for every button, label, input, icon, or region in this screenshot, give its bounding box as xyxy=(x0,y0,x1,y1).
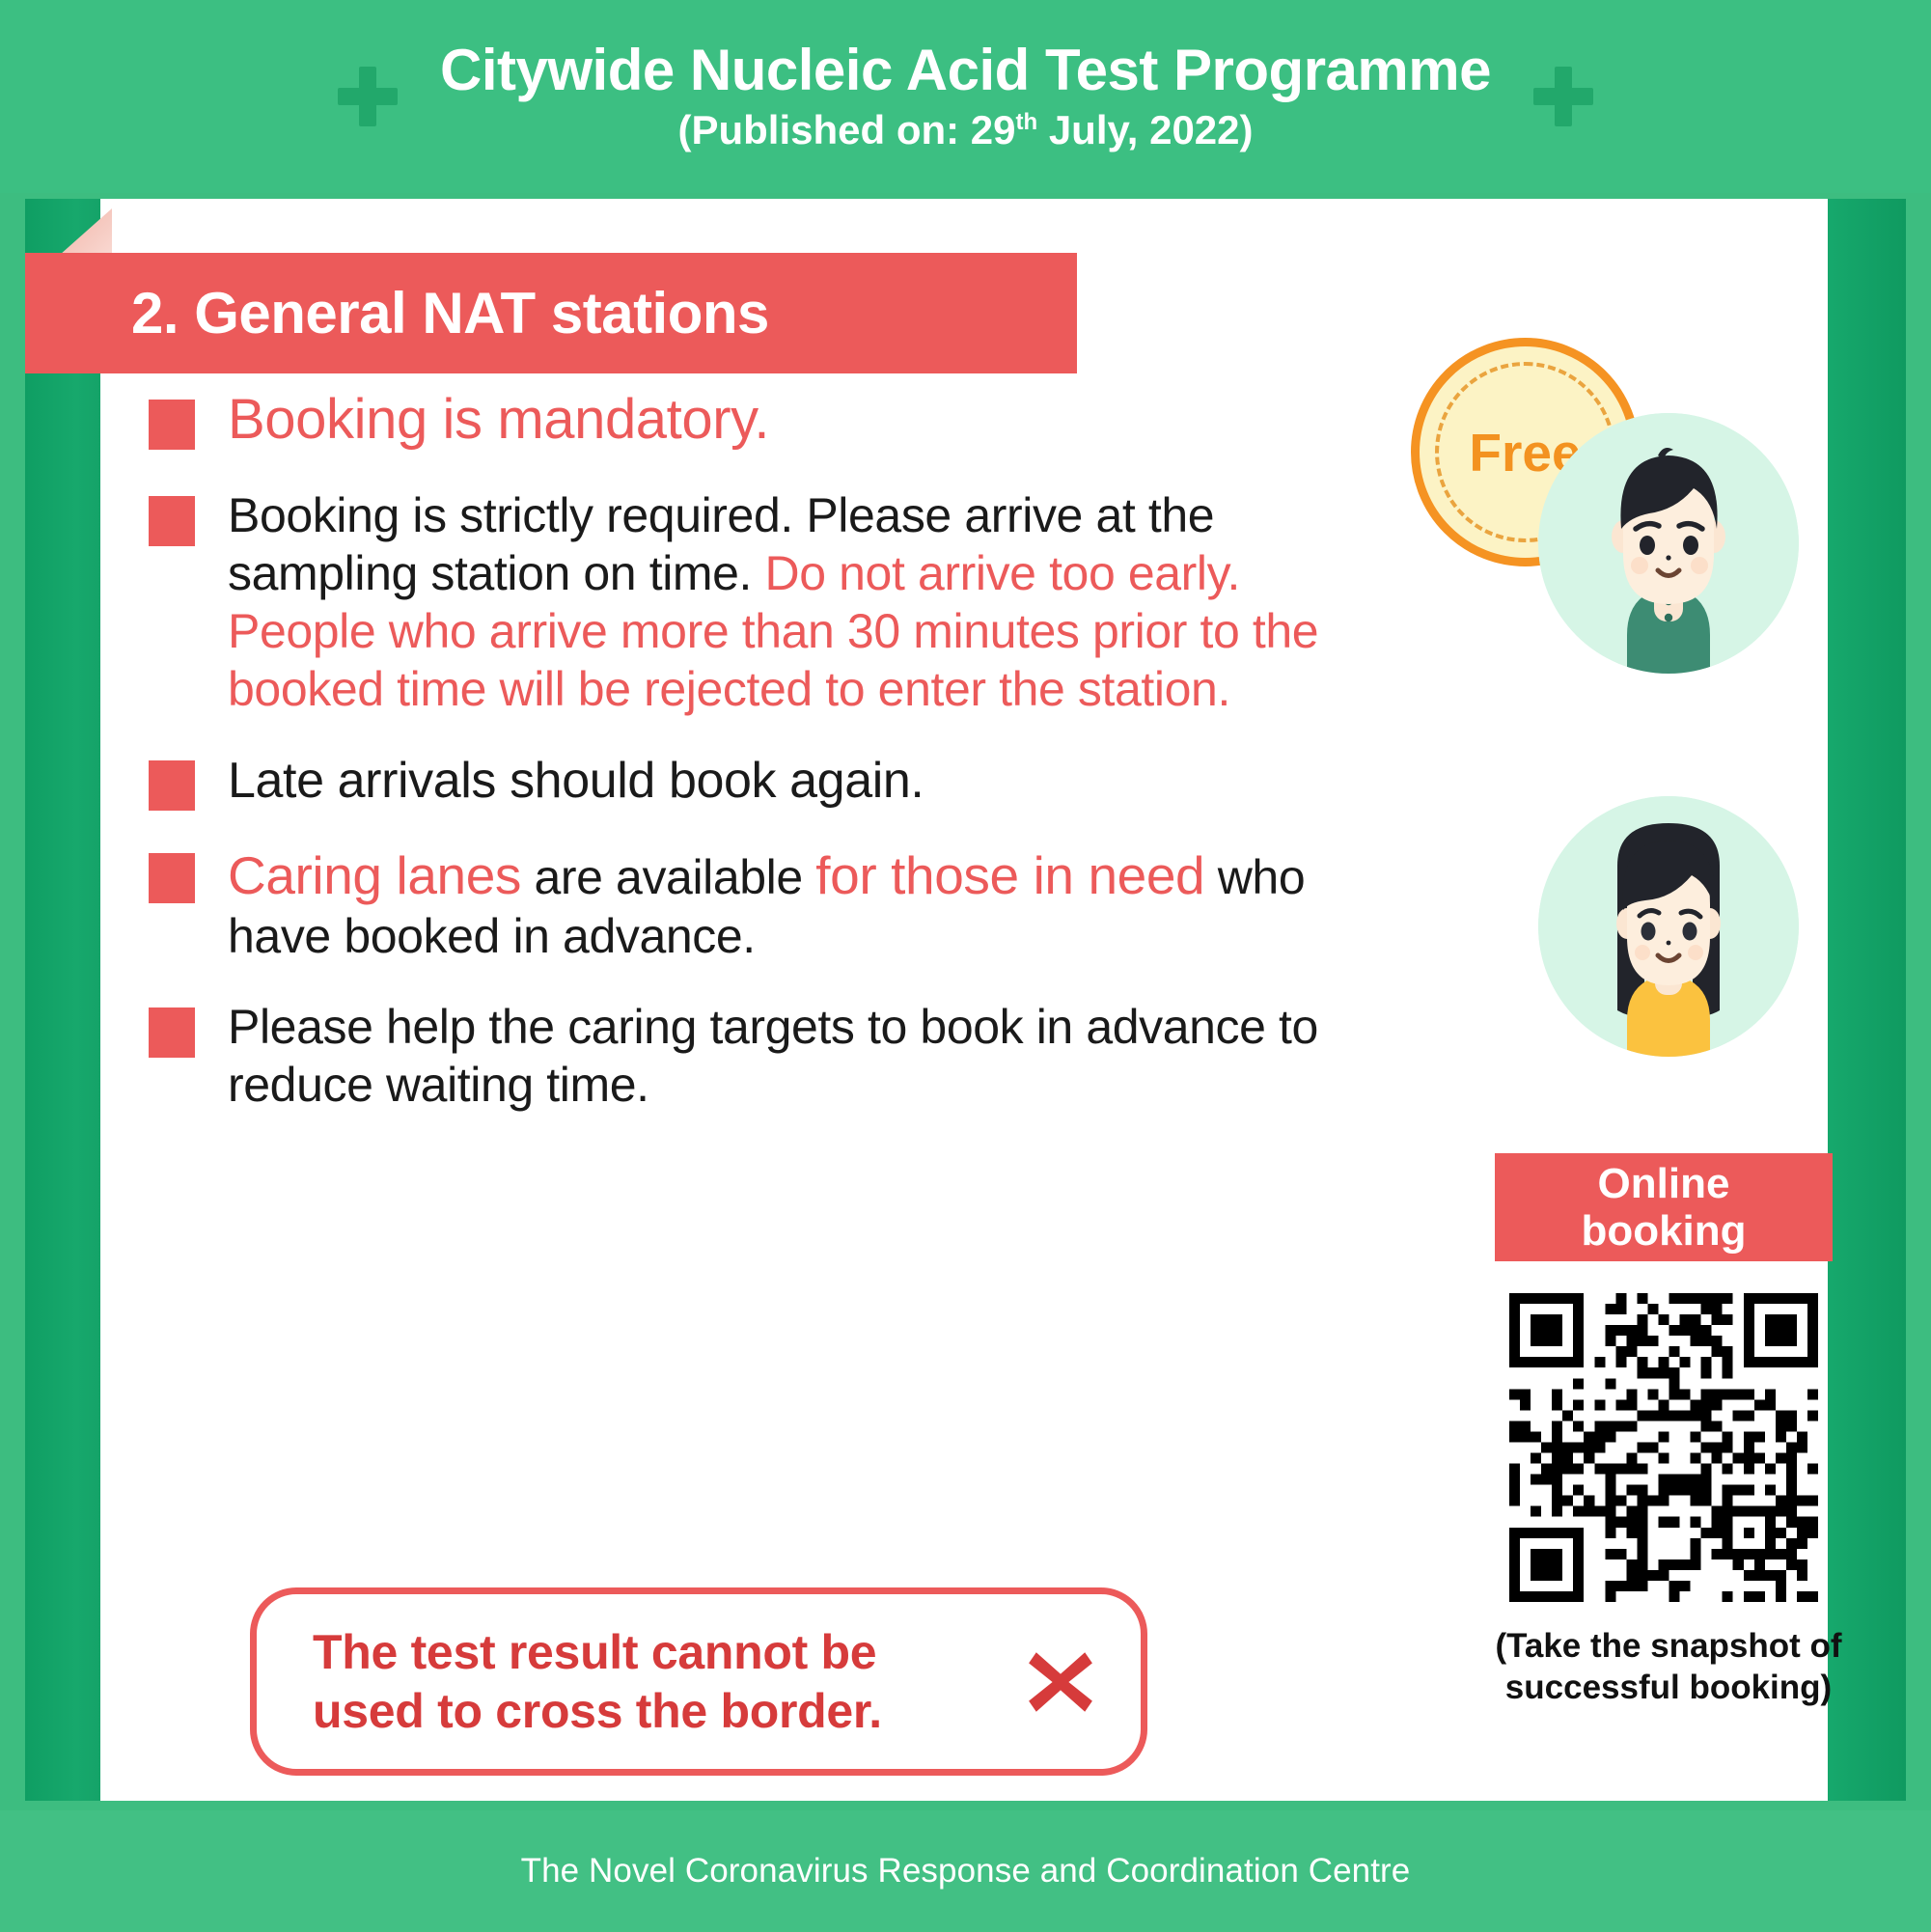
card-left-edge xyxy=(25,199,110,1801)
online-booking-label: Online booking xyxy=(1581,1160,1746,1256)
male-person-avatar xyxy=(1538,413,1799,674)
publish-date-prefix: (Published on: 29 xyxy=(677,107,1015,152)
online-booking-line-2: booking xyxy=(1581,1207,1746,1255)
bullet-part: Caring lanes xyxy=(228,845,521,905)
bullet-square-icon xyxy=(149,400,195,450)
bullet-square-icon xyxy=(149,496,195,546)
bullet-part: are available xyxy=(521,850,815,904)
bullet-item-late-arrivals: Late arrivals should book again. xyxy=(149,751,1384,811)
qr-code-image xyxy=(1509,1293,1818,1602)
female-person-avatar xyxy=(1538,796,1799,1057)
bullet-text: Booking is strictly required. Please arr… xyxy=(228,486,1384,718)
bullet-part: for those in need xyxy=(815,845,1204,905)
bullet-part: Booking is mandatory. xyxy=(228,388,769,451)
section-ribbon: 2. General NAT stations xyxy=(25,253,1077,373)
border-crossing-warning-box: The test result cannot be used to cross … xyxy=(250,1587,1147,1776)
warning-line-2: used to cross the border. xyxy=(313,1682,882,1741)
bullet-part: Please help the caring targets to book i… xyxy=(228,1000,1318,1112)
bullet-item-caring-lanes: Caring lanes are available for those in … xyxy=(149,843,1384,965)
bullet-text: Late arrivals should book again. xyxy=(228,751,924,811)
bullet-square-icon xyxy=(149,760,195,811)
bullet-text: Caring lanes are available for those in … xyxy=(228,843,1384,965)
online-booking-line-1: Online xyxy=(1581,1160,1746,1207)
bullet-item-booking-mandatory: Booking is mandatory. xyxy=(149,386,1384,454)
publish-date-ordinal: th xyxy=(1016,109,1038,135)
male-avatar-illustration xyxy=(1538,413,1799,674)
bullet-text: Please help the caring targets to book i… xyxy=(228,998,1384,1114)
female-avatar-illustration xyxy=(1538,796,1799,1057)
bullet-square-icon xyxy=(149,853,195,903)
bullet-item-booking-strictly-required: Booking is strictly required. Please arr… xyxy=(149,486,1384,718)
bullet-item-help-caring-targets: Please help the caring targets to book i… xyxy=(149,998,1384,1114)
online-booking-badge[interactable]: Online booking xyxy=(1495,1153,1833,1261)
plus-cross-icon-right xyxy=(1533,67,1593,126)
bullet-square-icon xyxy=(149,1007,195,1058)
header-inner: Citywide Nucleic Acid Test Programme (Pu… xyxy=(338,40,1593,153)
qr-caption: (Take the snapshot of successful booking… xyxy=(1442,1626,1895,1708)
booking-qr-code[interactable] xyxy=(1509,1293,1818,1602)
qr-caption-line-1: (Take the snapshot of xyxy=(1442,1626,1895,1668)
warning-text: The test result cannot be used to cross … xyxy=(313,1623,882,1741)
header-title-block: Citywide Nucleic Acid Test Programme (Pu… xyxy=(440,40,1491,153)
bullet-part: Late arrivals should book again. xyxy=(228,753,924,809)
bullet-text: Booking is mandatory. xyxy=(228,386,769,454)
warning-line-1: The test result cannot be xyxy=(313,1623,882,1682)
footer-text: The Novel Coronavirus Response and Coord… xyxy=(521,1852,1411,1891)
publish-date: (Published on: 29th July, 2022) xyxy=(440,106,1491,154)
plus-cross-icon-left xyxy=(338,67,398,126)
content-area: Booking is mandatory. Booking is strictl… xyxy=(100,386,1828,1805)
publish-date-suffix: July, 2022) xyxy=(1037,107,1253,152)
page-title: Citywide Nucleic Acid Test Programme xyxy=(440,40,1491,102)
page-footer: The Novel Coronavirus Response and Coord… xyxy=(0,1810,1931,1932)
page-header: Citywide Nucleic Acid Test Programme (Pu… xyxy=(0,0,1931,193)
bullet-list: Booking is mandatory. Booking is strictl… xyxy=(149,386,1384,1146)
section-title: 2. General NAT stations xyxy=(131,280,769,346)
red-x-icon xyxy=(1027,1648,1094,1716)
qr-caption-line-2: successful booking) xyxy=(1442,1668,1895,1709)
card-right-edge xyxy=(1824,199,1906,1801)
